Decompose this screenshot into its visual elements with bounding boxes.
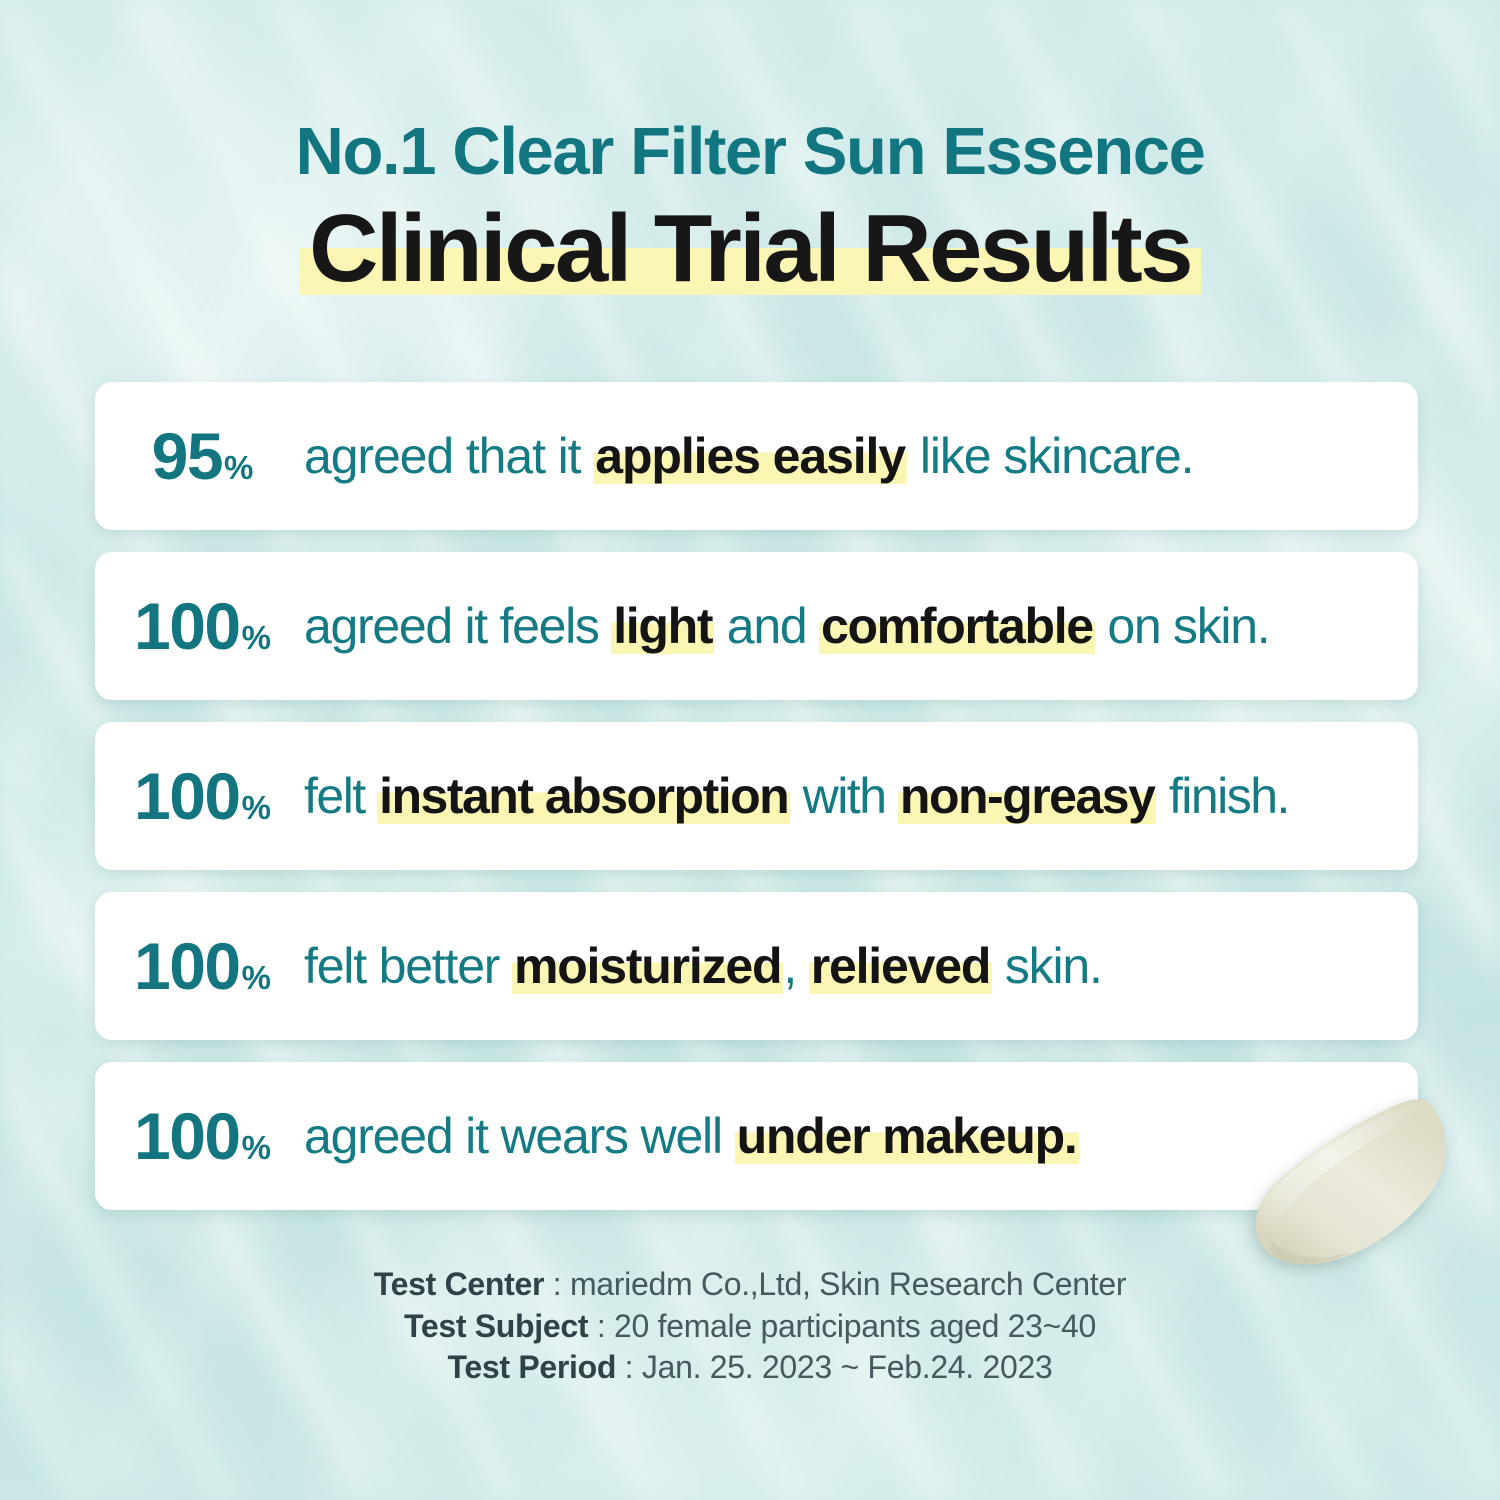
highlighted-phrase: comfortable [819,598,1095,654]
percent-number: 100 [134,763,240,829]
result-phrase: agreed it wears well under makeup. [304,1110,1418,1163]
clinical-trial-results-page: No.1 Clear Filter Sun Essence Clinical T… [0,0,1500,1500]
footer-line: Test Center : mariedm Co.,Ltd, Skin Rese… [0,1264,1500,1306]
result-phrase: agreed that it applies easily like skinc… [304,430,1418,483]
result-card: 100% agreed it wears well under makeup. [95,1062,1418,1210]
highlighted-phrase: non-greasy [898,768,1157,824]
footer-separator: : [544,1266,570,1302]
percent-number: 100 [134,933,240,999]
plain-phrase: skin. [992,938,1102,994]
footer-value: 20 female participants aged 23~40 [614,1308,1096,1344]
result-card: 95% agreed that it applies easily like s… [95,382,1418,530]
footer-label: Test Period [448,1349,617,1385]
percent-symbol: % [242,1131,271,1164]
percent-value: 100% [95,593,310,659]
result-card: 100% agreed it feels light and comfortab… [95,552,1418,700]
footer-separator: : [588,1308,614,1344]
percent-value: 100% [95,933,310,999]
plain-phrase: agreed it wears well [304,1108,735,1164]
plain-phrase: felt better [304,938,512,994]
highlighted-phrase: relieved [809,938,992,994]
footer-value: Jan. 25. 2023 ~ Feb.24. 2023 [642,1349,1053,1385]
highlighted-phrase: moisturized [512,938,783,994]
plain-phrase: agreed it feels [304,598,611,654]
plain-phrase: with [790,768,898,824]
result-phrase: agreed it feels light and comfortable on… [304,600,1418,653]
plain-phrase: finish. [1156,768,1289,824]
percent-value: 100% [95,763,310,829]
percent-value: 95% [95,423,310,489]
plain-phrase: and [714,598,819,654]
result-phrase: felt instant absorption with non-greasy … [304,770,1418,823]
eyebrow-title: No.1 Clear Filter Sun Essence [0,118,1500,185]
plain-phrase: , [783,938,808,994]
page-title: Clinical Trial Results [309,201,1191,297]
percent-value: 100% [95,1103,310,1169]
result-phrase: felt better moisturized, relieved skin. [304,940,1418,993]
percent-symbol: % [242,791,271,824]
test-info-footer: Test Center : mariedm Co.,Ltd, Skin Rese… [0,1264,1500,1389]
plain-phrase: like skincare. [907,428,1193,484]
percent-number: 100 [134,593,240,659]
percent-number: 95 [152,423,222,489]
percent-symbol: % [242,961,271,994]
footer-label: Test Center [374,1266,544,1302]
plain-phrase: felt [304,768,377,824]
footer-line: Test Subject : 20 female participants ag… [0,1306,1500,1348]
result-card: 100% felt better moisturized, relieved s… [95,892,1418,1040]
results-list: 95% agreed that it applies easily like s… [95,382,1418,1210]
title-block: No.1 Clear Filter Sun Essence Clinical T… [0,118,1500,297]
result-card: 100% felt instant absorption with non-gr… [95,722,1418,870]
footer-line: Test Period : Jan. 25. 2023 ~ Feb.24. 20… [0,1347,1500,1389]
percent-symbol: % [242,621,271,654]
plain-phrase: on skin. [1095,598,1270,654]
highlighted-phrase: applies easily [593,428,907,484]
percent-symbol: % [224,451,253,484]
footer-separator: : [616,1349,642,1385]
highlighted-phrase: light [611,598,714,654]
footer-label: Test Subject [404,1308,588,1344]
highlighted-phrase: under makeup. [735,1108,1079,1164]
highlighted-phrase: instant absorption [377,768,790,824]
main-title-wrap: Clinical Trial Results [309,201,1191,297]
plain-phrase: agreed that it [304,428,593,484]
footer-value: mariedm Co.,Ltd, Skin Research Center [570,1266,1126,1302]
percent-number: 100 [134,1103,240,1169]
